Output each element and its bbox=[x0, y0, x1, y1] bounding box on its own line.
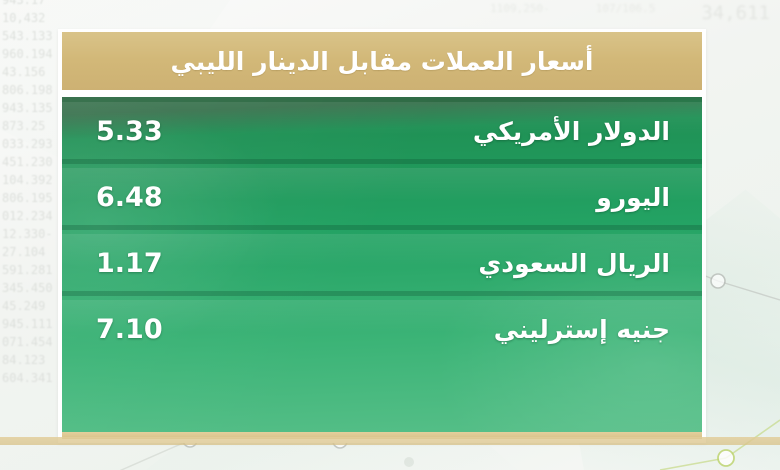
ticker-number: 345.450 bbox=[2, 282, 53, 295]
ticker-number: 604.341 bbox=[2, 372, 53, 385]
ticker-number: 27.104 bbox=[2, 246, 45, 259]
ticker-number: 012.234 bbox=[2, 210, 53, 223]
ticker-number: -12.330 bbox=[2, 228, 53, 241]
currency-rate-value: 5.33 bbox=[96, 116, 163, 147]
table-row[interactable]: جنيه إسترليني 7.10 bbox=[62, 296, 702, 362]
table-row[interactable]: الدولار الأمريكي 5.33 bbox=[62, 98, 702, 164]
card-header: أسعار العملات مقابل الدينار الليبي bbox=[62, 32, 702, 90]
ticker-number: 945.111 bbox=[2, 318, 53, 331]
ticker-number: 104.392 bbox=[2, 174, 53, 187]
ticker-number: 960.194 bbox=[2, 48, 53, 61]
table-row[interactable]: الريال السعودي 1.17 bbox=[62, 230, 702, 296]
currency-name: الريال السعودي bbox=[478, 249, 670, 278]
ticker-number: 45.249 bbox=[2, 300, 45, 313]
ticker-number: 84.123 bbox=[2, 354, 45, 367]
ticker-number: 451.230 bbox=[2, 156, 53, 169]
ticker-number: 943.135 bbox=[2, 102, 53, 115]
rates-list: الدولار الأمريكي 5.33 اليورو 6.48 الريال… bbox=[62, 97, 702, 432]
top-number-primary: 34,611 bbox=[701, 2, 770, 24]
page-title: أسعار العملات مقابل الدينار الليبي bbox=[171, 47, 594, 76]
ticker-number: 806.195 bbox=[2, 192, 53, 205]
table-row[interactable]: اليورو 6.48 bbox=[62, 164, 702, 230]
bottom-accent-strip bbox=[0, 437, 780, 445]
currency-name: الدولار الأمريكي bbox=[473, 117, 670, 146]
currency-rate-value: 1.17 bbox=[96, 248, 163, 279]
rates-rows: الدولار الأمريكي 5.33 اليورو 6.48 الريال… bbox=[62, 97, 702, 362]
currency-rate-value: 6.48 bbox=[96, 182, 163, 213]
ticker-number: 806.198 bbox=[2, 84, 53, 97]
ticker-number: 591.281 bbox=[2, 264, 53, 277]
currency-name: اليورو bbox=[596, 183, 670, 212]
top-number-tertiary: -1109,250 bbox=[490, 2, 550, 15]
currency-name: جنيه إسترليني bbox=[494, 315, 670, 344]
currency-rates-card: أسعار العملات مقابل الدينار الليبي الدول… bbox=[58, 29, 706, 443]
ticker-number: 873.25 bbox=[2, 120, 45, 133]
ticker-number: 033.293 bbox=[2, 138, 53, 151]
ticker-number: 943.17 bbox=[2, 0, 45, 7]
screenshot-canvas: 943.17 10,432 543.133 960.194 43.156 806… bbox=[0, 0, 780, 470]
background-top-numbers: 34,611 107/106.5 -1109,250 bbox=[170, 2, 770, 24]
ticker-number: 071.454 bbox=[2, 336, 53, 349]
ticker-number: 10,432 bbox=[2, 12, 45, 25]
ticker-number: 43.156 bbox=[2, 66, 45, 79]
top-number-secondary: 107/106.5 bbox=[596, 2, 656, 15]
ticker-number: 543.133 bbox=[2, 30, 53, 43]
currency-rate-value: 7.10 bbox=[96, 314, 163, 345]
